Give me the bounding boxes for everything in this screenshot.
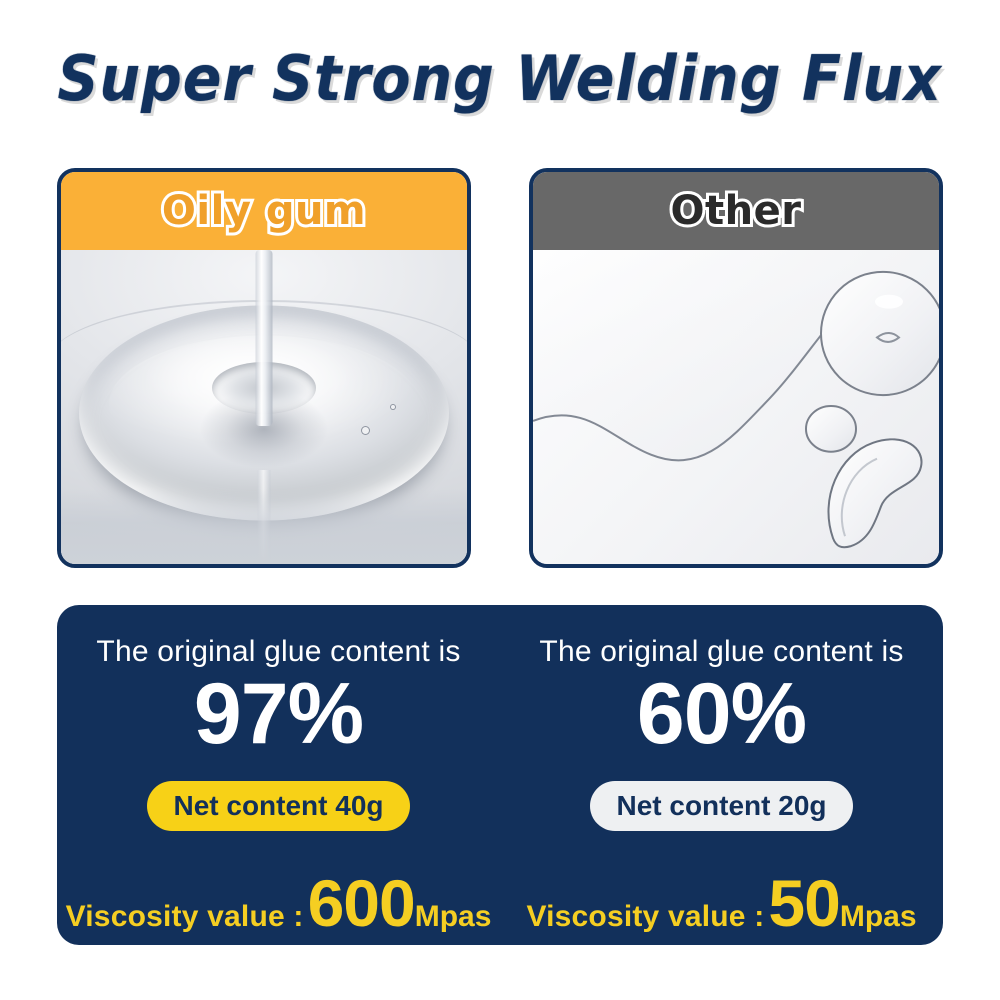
specs-panel: The original glue content is 97% Net con… xyxy=(57,605,943,945)
card-header-label: Oily gum xyxy=(162,188,366,234)
spec-column-oily-gum: The original glue content is 97% Net con… xyxy=(57,605,500,945)
card-header-oily-gum: Oily gum xyxy=(61,172,467,250)
gel-pour-stream xyxy=(256,250,273,426)
card-header-other: Other xyxy=(533,172,939,250)
title-banner: Super Strong Welding Flux xyxy=(0,40,1000,116)
viscosity-value: 50 xyxy=(768,865,839,941)
glue-content-percent: 97% xyxy=(194,671,363,759)
page-title: Super Strong Welding Flux xyxy=(58,42,942,115)
surface-reflection xyxy=(61,489,467,564)
comparison-card-other: Other xyxy=(529,168,943,568)
comparison-card-oily-gum: Oily gum xyxy=(57,168,471,568)
viscosity-row: Viscosity value : 600 Mpas xyxy=(66,865,492,941)
spec-column-other: The original glue content is 60% Net con… xyxy=(500,605,943,945)
comparison-row: Oily gum Other xyxy=(57,168,943,568)
photo-thick-viscous-gel xyxy=(61,250,467,564)
net-content-badge: Net content 20g xyxy=(590,781,852,831)
glue-content-caption: The original glue content is xyxy=(96,635,460,669)
thin-liquid-puddles xyxy=(533,250,939,564)
viscosity-unit: Mpas xyxy=(415,900,492,934)
net-content-badge: Net content 40g xyxy=(147,781,409,831)
gel-bubble xyxy=(390,404,396,410)
viscosity-value: 600 xyxy=(308,865,415,941)
card-header-label: Other xyxy=(671,188,802,234)
viscosity-label: Viscosity value : xyxy=(66,900,304,934)
viscosity-label: Viscosity value : xyxy=(526,900,764,934)
viscosity-row: Viscosity value : 50 Mpas xyxy=(526,865,916,941)
glue-content-caption: The original glue content is xyxy=(539,635,903,669)
viscosity-unit: Mpas xyxy=(840,900,917,934)
photo-thin-runny-liquid xyxy=(533,250,939,564)
chevron-left-icon xyxy=(0,51,1,105)
glue-content-percent: 60% xyxy=(637,671,806,759)
